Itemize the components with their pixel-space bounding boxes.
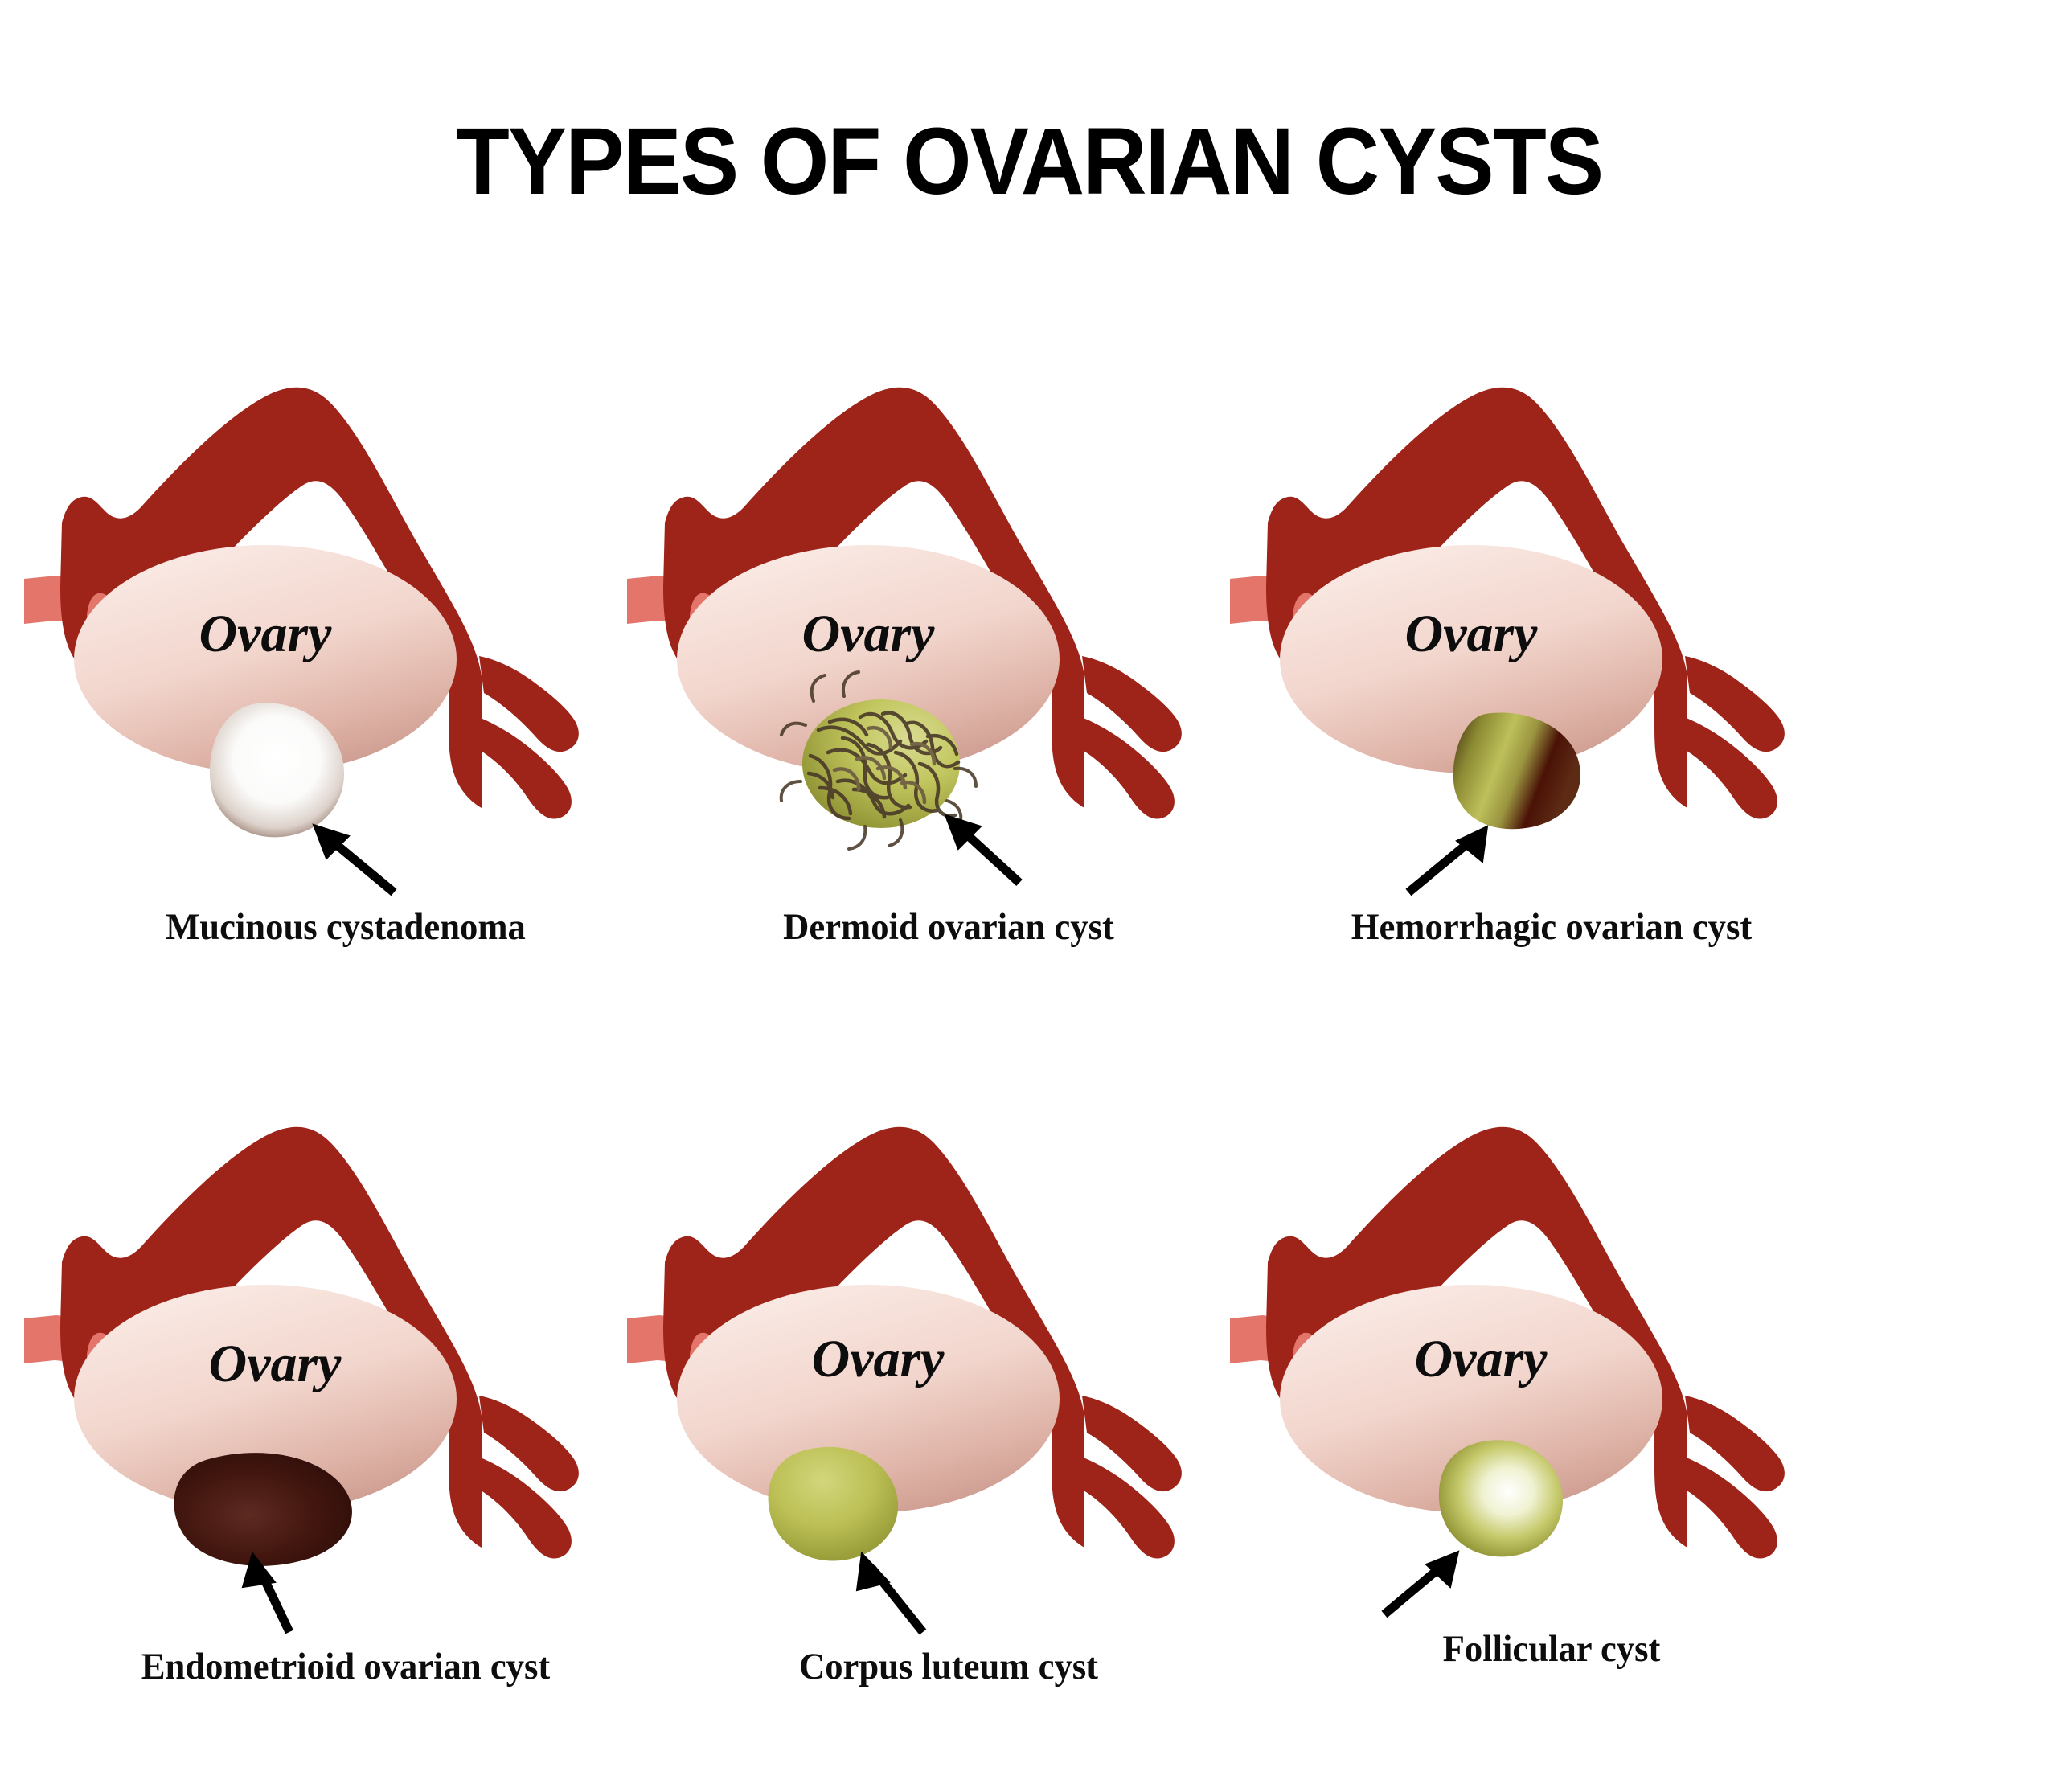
ovary-label: Ovary <box>802 605 936 663</box>
panel-follicular-cyst: Ovary Follicular cyst <box>1230 1077 1873 1777</box>
caption-hemorrhagic-ovarian-cyst: Hemorrhagic ovarian cyst <box>1246 905 1857 949</box>
ovary-label: Ovary <box>1405 605 1539 663</box>
panel-dermoid-ovarian-cyst: Ovary Dermoid ovarian cyst <box>627 338 1270 1037</box>
caption-dermoid-ovarian-cyst: Dermoid ovarian cyst <box>643 905 1254 949</box>
panel-illustration: Ovary <box>24 1077 667 1640</box>
caption-mucinous-cystadenoma: Mucinous cystadenoma <box>40 905 651 949</box>
callout-arrow <box>1408 826 1487 892</box>
fimbriae <box>473 656 579 818</box>
panel-illustration: Ovary <box>627 338 1270 900</box>
ovary-label: Ovary <box>209 1335 342 1393</box>
callout-arrow <box>1384 1552 1458 1614</box>
panel-illustration: Ovary <box>627 1077 1270 1640</box>
caption-endometrioid-ovarian-cyst: Endometrioid ovarian cyst <box>40 1645 651 1688</box>
panel-illustration: Ovary <box>1230 1077 1873 1640</box>
ovary-label: Ovary <box>812 1330 945 1388</box>
panel-mucinous-cystadenoma: Ovary Mucinous cystadenoma <box>24 338 667 1037</box>
fimbriae <box>1076 1396 1182 1558</box>
fimbriae <box>1076 656 1182 818</box>
caption-follicular-cyst: Follicular cyst <box>1246 1627 1857 1671</box>
panel-grid: Ovary Mucinous cystadenoma <box>0 338 2058 1769</box>
panel-endometrioid-ovarian-cyst: Ovary Endometrioid ovarian cyst <box>24 1077 667 1777</box>
fimbriae <box>473 1396 579 1558</box>
callout-arrow <box>857 1553 923 1632</box>
page-title: TYPES OF OVARIAN CYSTS <box>72 114 1986 209</box>
ovary-label: Ovary <box>1415 1330 1548 1388</box>
caption-corpus-luteum-cyst: Corpus luteum cyst <box>643 1645 1254 1688</box>
panel-hemorrhagic-ovarian-cyst: Ovary Hemorrhagic ovarian cyst <box>1230 338 1873 1037</box>
panel-illustration: Ovary <box>24 338 667 900</box>
callout-arrow <box>945 815 1019 883</box>
callout-arrow <box>314 825 394 892</box>
ovarian-cysts-infographic: TYPES OF OVARIAN CYSTS <box>0 0 2058 1792</box>
panel-illustration: Ovary <box>1230 338 1873 900</box>
fimbriae <box>1679 1396 1785 1558</box>
ovary-label: Ovary <box>199 605 333 663</box>
panel-corpus-luteum-cyst: Ovary Corpus luteum cyst <box>627 1077 1270 1777</box>
fimbriae <box>1679 656 1785 818</box>
